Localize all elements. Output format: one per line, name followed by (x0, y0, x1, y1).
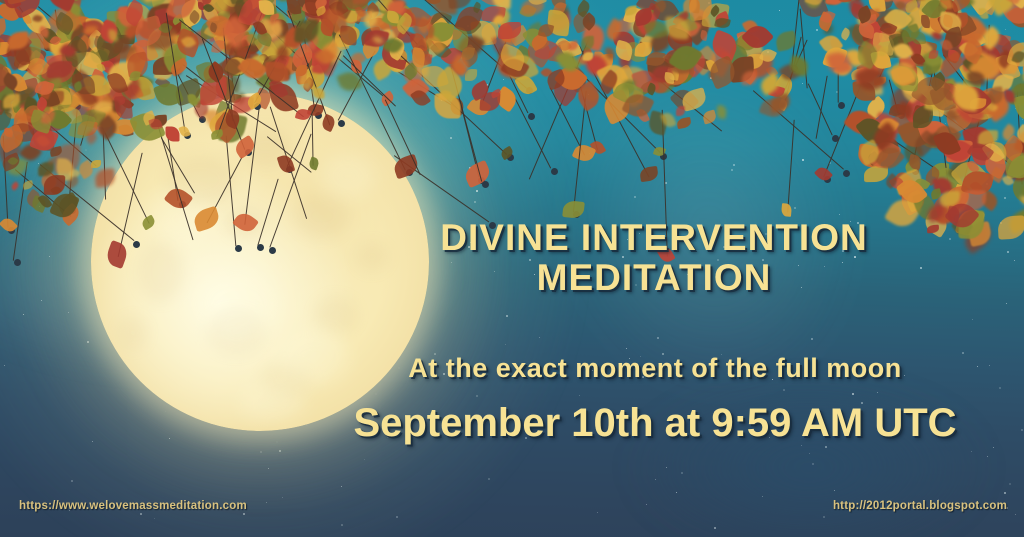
website-url-right[interactable]: http://2012portal.blogspot.com (833, 500, 1007, 512)
subtitle-text: At the exact moment of the full moon (355, 352, 955, 384)
page-title: DIVINE INTERVENTION MEDITATION (404, 218, 904, 298)
website-url-left[interactable]: https://www.welovemassmeditation.com (19, 500, 247, 512)
event-datetime: September 10th at 9:59 AM UTC (325, 400, 985, 446)
title-line-2: MEDITATION (404, 258, 904, 298)
title-line-1: DIVINE INTERVENTION (404, 218, 904, 258)
poster-banner: DIVINE INTERVENTION MEDITATION At the ex… (0, 0, 1024, 537)
